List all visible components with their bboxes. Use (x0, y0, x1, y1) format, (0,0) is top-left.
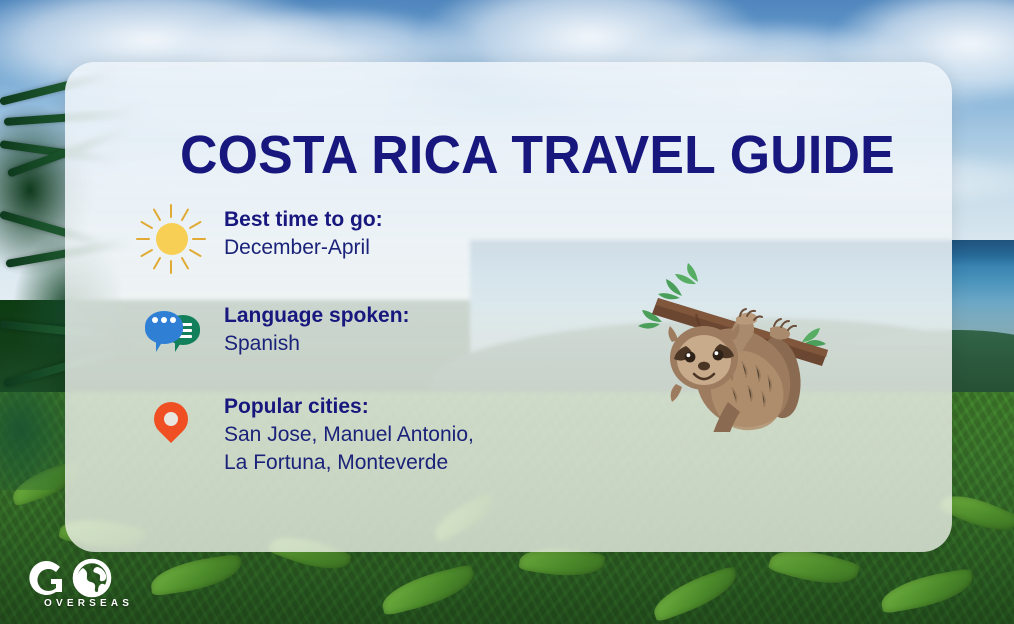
sun-ray (170, 260, 172, 274)
sun-ray (181, 257, 190, 270)
fact-row-language-spoken: Language spoken: Spanish (140, 303, 410, 367)
fact-row-best-time-to-go: Best time to go: December-April (140, 207, 383, 271)
sun-ray (140, 221, 153, 230)
fact-row-popular-cities: Popular cities: San Jose, Manuel Antonio… (140, 394, 474, 477)
sun-ray (153, 257, 162, 270)
sun-disc (156, 223, 188, 255)
sun-ray (189, 221, 202, 230)
fact-value-line: La Fortuna, Monteverde (224, 449, 474, 477)
sun-ray (189, 249, 202, 258)
map-pin-icon (140, 394, 204, 458)
fact-value-line: December-April (224, 234, 383, 262)
fact-value-line: Spanish (224, 330, 410, 358)
map-pin-shape (147, 395, 195, 443)
fact-label: Language spoken: (224, 303, 410, 330)
sun-ray (170, 204, 172, 218)
speech-bubbles-icon (140, 303, 204, 367)
sun-ray (153, 208, 162, 221)
fact-value-line: San Jose, Manuel Antonio, (224, 421, 474, 449)
go-overseas-logo[interactable]: OVERSEAS (22, 558, 142, 614)
speech-bubble-blue (145, 311, 183, 344)
fact-label: Popular cities: (224, 394, 474, 421)
sun-icon (140, 207, 204, 271)
infographic-canvas: COSTA RICA TRAVEL GUIDE Best time to go:… (0, 0, 1014, 624)
sun-ray (140, 249, 153, 258)
bubble-dot (170, 317, 176, 323)
fact-text-block: Best time to go: December-April (204, 207, 383, 262)
globe-icon (75, 561, 109, 595)
logo-wordmark: OVERSEAS (44, 598, 133, 609)
sloth-hanging-from-branch-illustration (636, 262, 836, 432)
bubble-dot (161, 317, 167, 323)
logo-letter-g (29, 561, 62, 595)
fact-text-block: Popular cities: San Jose, Manuel Antonio… (204, 394, 474, 477)
bubble-dot (152, 317, 158, 323)
page-title: COSTA RICA TRAVEL GUIDE (180, 124, 895, 186)
fact-text-block: Language spoken: Spanish (204, 303, 410, 358)
sun-ray (181, 208, 190, 221)
sun-ray (192, 238, 206, 240)
sun-ray (136, 238, 150, 240)
fact-label: Best time to go: (224, 207, 383, 234)
